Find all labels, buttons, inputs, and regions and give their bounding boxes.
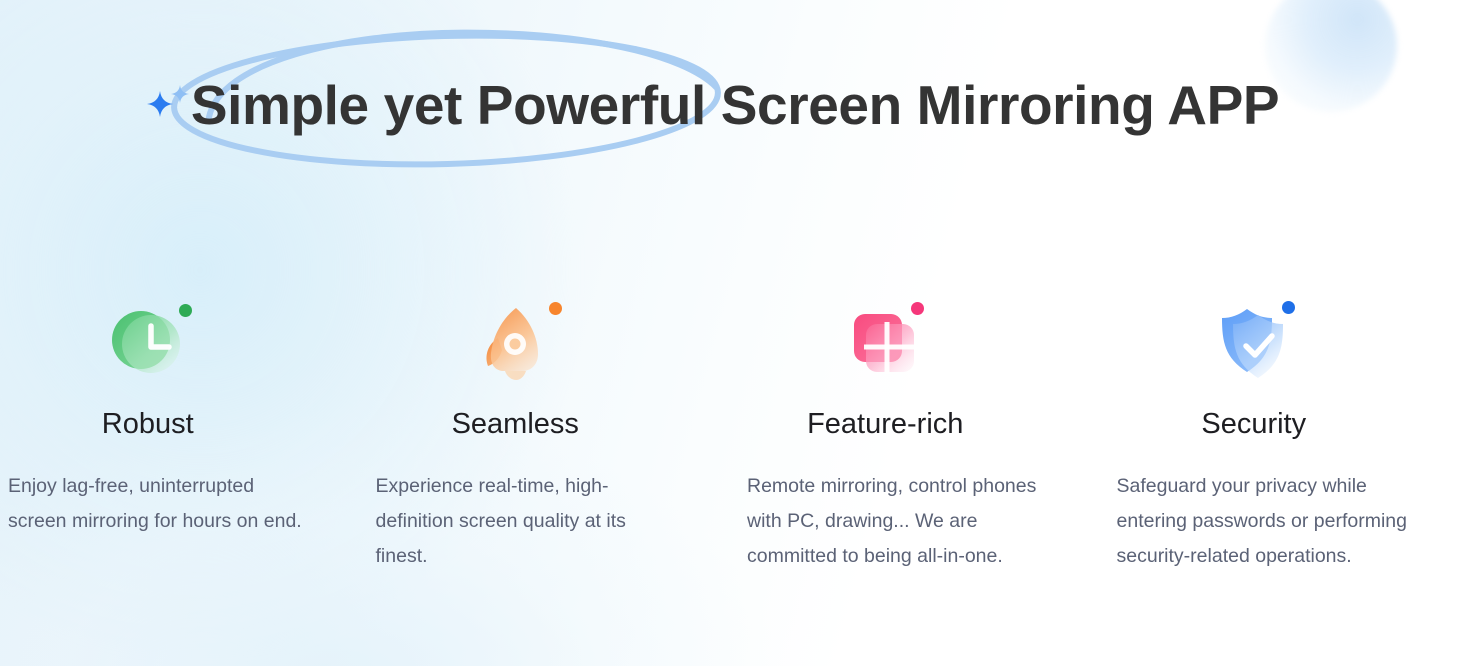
rocket-icon — [472, 300, 558, 386]
feature-title: Feature-rich — [735, 407, 1103, 441]
status-dot — [549, 302, 562, 315]
page-title: Simple yet Powerful Screen Mirroring APP — [0, 62, 1470, 148]
clock-icon — [105, 300, 191, 386]
feature-icon-slot — [1103, 295, 1470, 391]
hero-heading-area: Simple yet Powerful Screen Mirroring APP — [0, 62, 1470, 158]
feature-list: Robust Enjoy lag-free, uninterrupted scr… — [0, 295, 1470, 574]
status-dot — [1282, 301, 1295, 314]
feature-title: Security — [1103, 407, 1470, 441]
status-dot — [179, 304, 192, 317]
feature-description: Remote mirroring, control phones with PC… — [747, 469, 1047, 574]
feature-title: Robust — [0, 407, 368, 441]
grid-layout-icon — [842, 300, 928, 386]
sparkle-large-icon — [146, 90, 174, 118]
feature-card-security: Security Safeguard your privacy while en… — [1103, 295, 1470, 574]
feature-card-feature-rich: Feature-rich Remote mirroring, control p… — [735, 295, 1103, 574]
feature-description: Enjoy lag-free, uninterrupted screen mir… — [8, 469, 308, 539]
feature-card-robust: Robust Enjoy lag-free, uninterrupted scr… — [0, 295, 368, 574]
feature-icon-slot — [0, 295, 368, 391]
feature-icon-slot — [368, 295, 736, 391]
feature-description: Experience real-time, high-definition sc… — [376, 469, 676, 574]
page-title-emphasis: Simple yet Powerful — [191, 74, 706, 136]
feature-card-seamless: Seamless Experience real-time, high-defi… — [368, 295, 736, 574]
feature-description: Safeguard your privacy while entering pa… — [1117, 469, 1427, 574]
page-title-rest: Screen Mirroring APP — [706, 74, 1279, 136]
feature-icon-slot — [735, 295, 1103, 391]
feature-title: Seamless — [368, 407, 736, 441]
shield-check-icon — [1211, 300, 1297, 386]
